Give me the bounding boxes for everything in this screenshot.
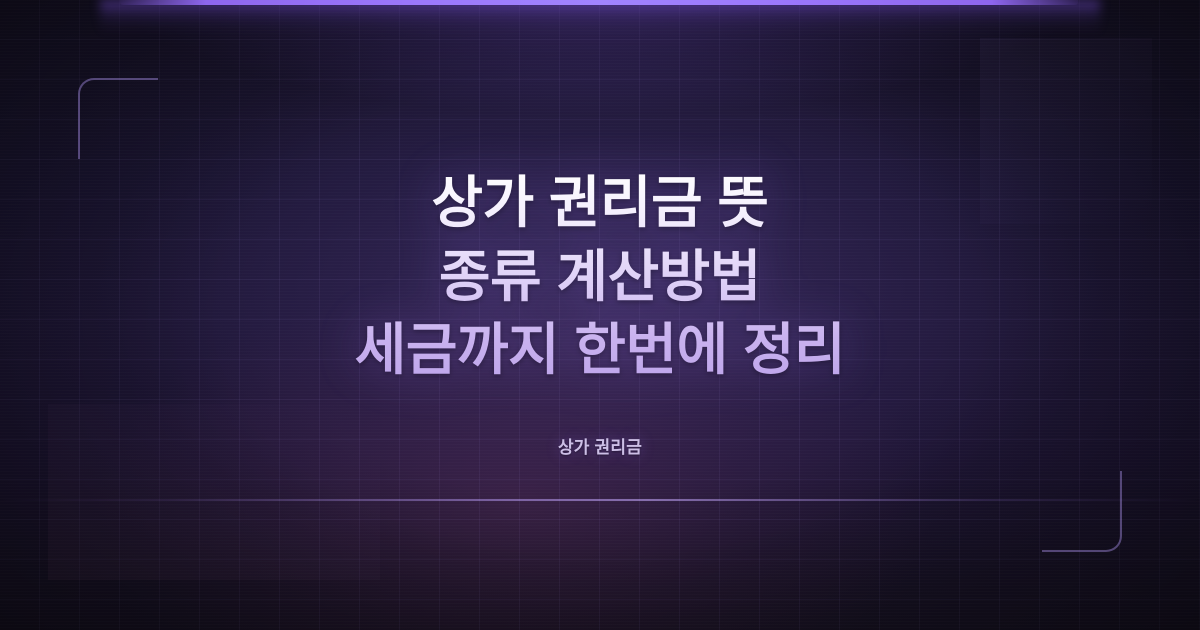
page-subtitle: 상가 권리금	[558, 433, 642, 458]
title-line-2: 종류 계산방법	[355, 240, 845, 314]
title-line-3: 세금까지 한번에 정리	[355, 313, 845, 387]
thumbnail-card: 상가 권리금 뜻 종류 계산방법 세금까지 한번에 정리 상가 권리금	[0, 0, 1200, 630]
title-line-1: 상가 권리금 뜻	[355, 166, 845, 240]
hero-content: 상가 권리금 뜻 종류 계산방법 세금까지 한번에 정리 상가 권리금	[0, 0, 1200, 630]
page-title: 상가 권리금 뜻 종류 계산방법 세금까지 한번에 정리	[355, 166, 845, 388]
